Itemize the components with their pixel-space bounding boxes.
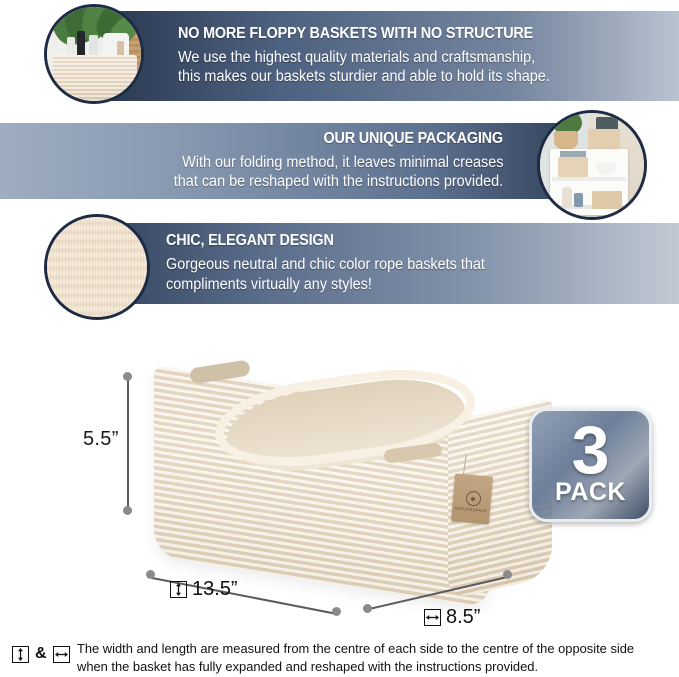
height-dimension-endpoint [123,372,132,381]
depth-dimension-value: 8.5” [446,606,480,629]
planter-prop [554,131,578,149]
cream-rope-basket-photo: NATURESPACE [148,362,538,614]
footnote-line-1: The width and length are measured from t… [77,640,634,658]
feature-banner-1-line2: this makes our baskets sturdier and able… [178,67,550,87]
pack-count-number: 3 [572,421,610,479]
vertical-arrow-icon [12,646,29,663]
feature-banner-3: CHIC, ELEGANT DESIGN Gorgeous neutral an… [108,223,679,304]
rope-texture-closeup-photo [44,214,150,320]
brand-logo-icon [465,490,481,506]
cream-basket-prop [53,55,137,99]
footnote-ampersand: & [35,645,47,663]
depth-dimension-endpoint [503,570,512,579]
depth-dimension-endpoint [363,604,372,613]
horizontal-arrow-icon [53,646,70,663]
height-dimension-label: 5.5” [83,428,119,451]
length-dimension-endpoint [332,607,341,616]
hang-tag: NATURESPACE [451,473,493,524]
shelf-with-baskets-photo [537,110,647,220]
height-dimension-line [127,380,129,510]
feature-banner-3-title: CHIC, ELEGANT DESIGN [166,232,334,250]
length-dimension-value: 13.5” [192,578,238,601]
basket-prop [592,191,622,209]
hang-tag-brand: NATURESPACE [452,505,490,513]
toiletry-bottle-prop [77,31,85,57]
footnote-text: The width and length are measured from t… [77,640,634,677]
depth-dimension-tag: 8.5” [424,606,480,629]
pack-count-badge: 3 PACK [529,408,652,522]
feature-banner-2-line2: that can be reshaped with the instructio… [174,172,503,192]
footnote-line-2: when the basket has fully expanded and r… [77,658,634,676]
length-dimension-tag: 13.5” [170,578,238,601]
vase-prop [562,187,572,207]
feature-banner-2: OUR UNIQUE PACKAGING With our folding me… [0,123,571,199]
feature-banner-1-line1: We use the highest quality materials and… [178,48,535,68]
feature-banner-1-title: NO MORE FLOPPY BASKETS WITH NO STRUCTURE [178,25,533,43]
feature-banner-3-line2: compliments virtually any styles! [166,275,372,295]
vertical-arrow-icon [170,581,187,598]
vase-prop [574,193,583,207]
basket-prop [558,157,588,177]
measurement-footnote: & The width and length are measured from… [12,640,651,677]
basket-prop [588,129,620,149]
footnote-icon-group: & [12,640,70,663]
feature-banner-2-line1: With our folding method, it leaves minim… [182,153,503,173]
feature-banner-1: NO MORE FLOPPY BASKETS WITH NO STRUCTURE… [108,11,679,101]
pack-count-word: PACK [555,480,626,505]
basket-with-plants-photo [44,4,144,104]
height-dimension-endpoint [123,506,132,515]
horizontal-arrow-icon [424,609,441,626]
feature-banner-2-title: OUR UNIQUE PACKAGING [324,130,503,148]
length-dimension-endpoint [146,570,155,579]
feature-banner-3-line1: Gorgeous neutral and chic color rope bas… [166,255,485,275]
